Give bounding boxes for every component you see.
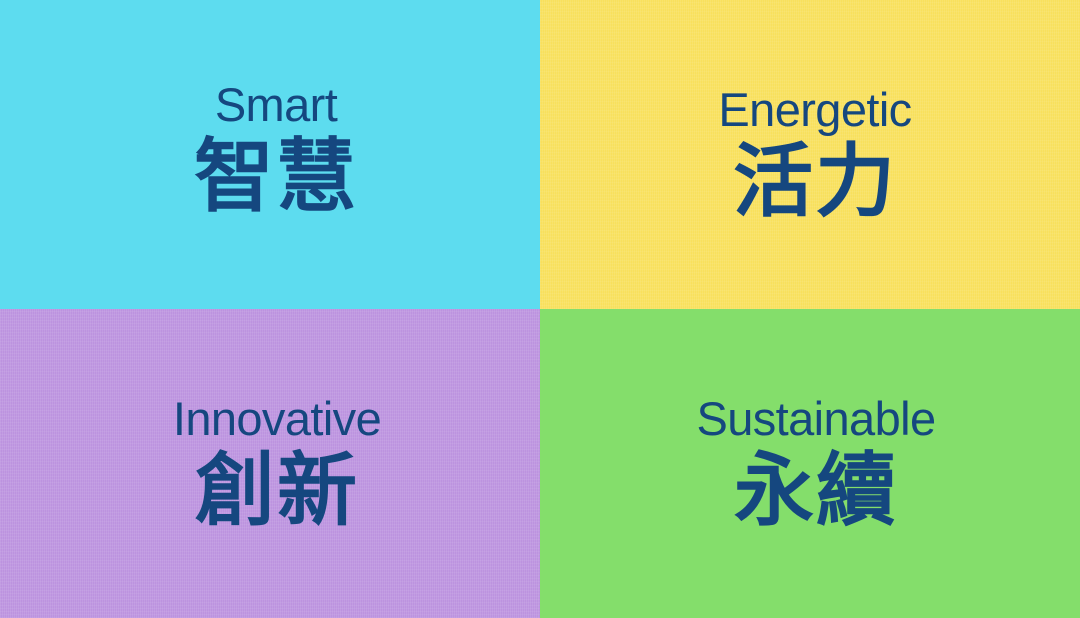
- quadrant-innovative-label-en: Innovative: [173, 395, 381, 442]
- quadrant-smart-label-en: Smart: [215, 81, 337, 128]
- quadrant-innovative: Innovative 創新: [0, 309, 540, 618]
- quadrant-innovative-content: Innovative 創新: [173, 395, 381, 531]
- quadrant-sustainable-content: Sustainable 永續: [696, 395, 935, 531]
- quadrant-innovative-label-cjk: 創新: [195, 451, 359, 531]
- quadrant-sustainable-label-cjk: 永續: [734, 451, 898, 531]
- quadrant-smart: Smart 智慧: [0, 0, 540, 309]
- value-grid: Smart 智慧 Energetic 活力 Innovative 創新 Sust…: [0, 0, 1080, 618]
- quadrant-energetic-label-cjk: 活力: [733, 142, 897, 222]
- quadrant-smart-label-cjk: 智慧: [194, 137, 358, 217]
- quadrant-sustainable-label-en: Sustainable: [696, 395, 935, 442]
- quadrant-energetic-content: Energetic 活力: [718, 86, 911, 222]
- quadrant-energetic: Energetic 活力: [540, 0, 1080, 309]
- quadrant-sustainable: Sustainable 永續: [540, 309, 1080, 618]
- quadrant-energetic-label-en: Energetic: [718, 86, 911, 133]
- quadrant-smart-content: Smart 智慧: [194, 81, 358, 217]
